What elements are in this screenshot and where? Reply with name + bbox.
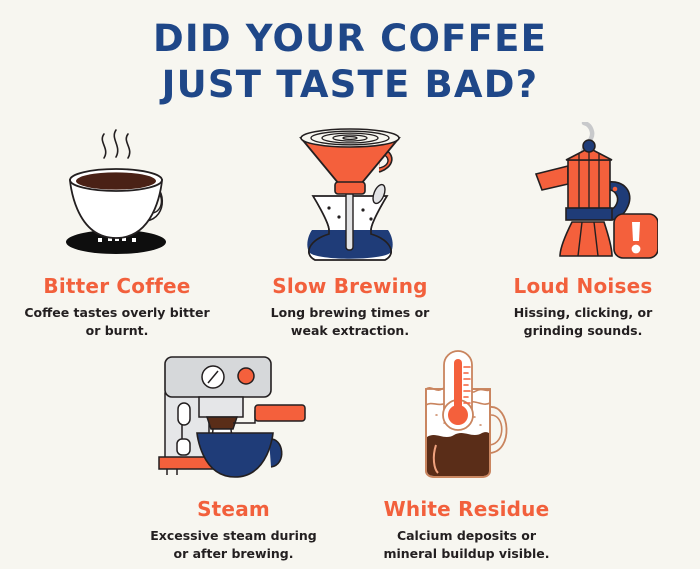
card-description: Coffee tastes overly bitter or burnt. <box>24 304 209 340</box>
mug-thermometer-icon <box>392 345 542 485</box>
card-heading: Loud Noises <box>514 275 653 297</box>
card-description: Calcium deposits or mineral buildup visi… <box>383 527 549 563</box>
card-heading: Steam <box>197 498 270 520</box>
title-line-1: DID YOUR COFFEE <box>0 16 700 62</box>
card-heading: Slow Brewing <box>272 275 427 297</box>
card-description: Excessive steam during or after brewing. <box>150 527 316 563</box>
pour-over-brewer-icon <box>275 122 425 262</box>
infographic-poster: DID YOUR COFFEE JUST TASTE BAD? <box>0 0 700 569</box>
moka-pot-alert-icon <box>508 122 658 262</box>
symptom-card-white-residue: White Residue Calcium deposits or minera… <box>350 345 583 563</box>
title-line-2: JUST TASTE BAD? <box>0 62 700 108</box>
card-description: Hissing, clicking, or grinding sounds. <box>514 304 653 340</box>
symptom-card-loud-noises: Loud Noises Hissing, clicking, or grindi… <box>467 122 700 340</box>
card-heading: White Residue <box>384 498 550 520</box>
symptom-card-slow-brewing: Slow Brewing Long brewing times or weak … <box>234 122 467 340</box>
page-title: DID YOUR COFFEE JUST TASTE BAD? <box>0 0 700 108</box>
symptom-card-bitter-coffee: Bitter Coffee Coffee tastes overly bitte… <box>1 122 234 340</box>
symptom-card-steam: Steam Excessive steam during or after br… <box>117 345 350 563</box>
card-heading: Bitter Coffee <box>43 275 190 297</box>
espresso-machine-icon <box>151 345 316 485</box>
card-description: Long brewing times or weak extraction. <box>271 304 430 340</box>
coffee-cup-icon <box>42 122 192 262</box>
symptom-row-top: Bitter Coffee Coffee tastes overly bitte… <box>0 122 700 340</box>
symptom-row-bottom: Steam Excessive steam during or after br… <box>0 345 700 563</box>
